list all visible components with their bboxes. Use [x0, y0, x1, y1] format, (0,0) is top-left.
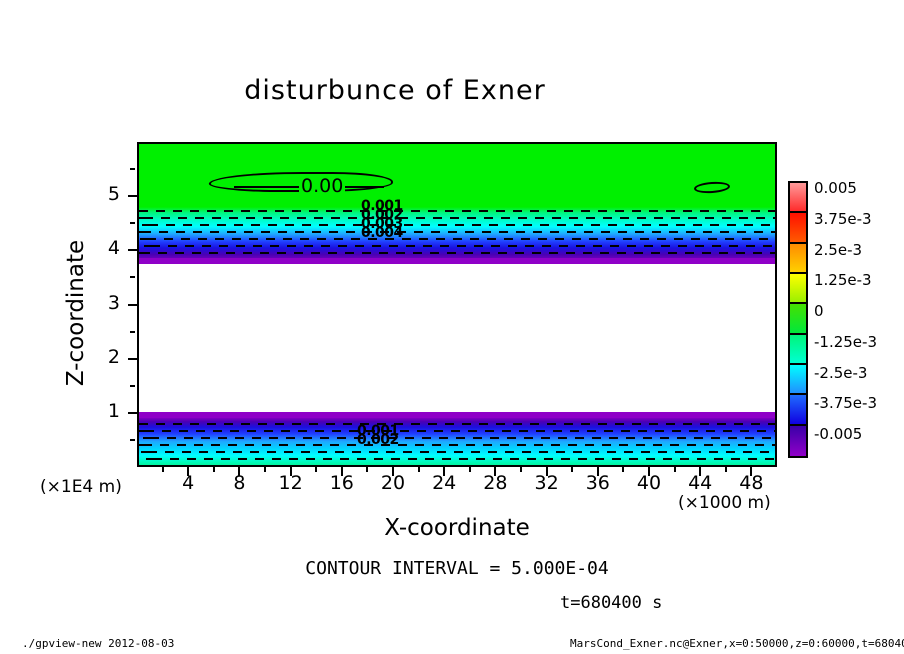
y-tick-label: 1	[96, 400, 120, 422]
colorbar	[788, 181, 808, 458]
x-tick-label: 8	[214, 472, 264, 494]
colorbar-tick-label: 0.005	[814, 179, 857, 197]
colorbar-tick-label: 2.5e-3	[814, 241, 862, 259]
y-tick-major	[128, 195, 137, 197]
x-tick-label: 16	[317, 472, 367, 494]
y-tick-major	[128, 249, 137, 251]
contour-label-cluster-lower: 0.001 0.002	[357, 427, 399, 445]
contour-dash-line	[139, 444, 775, 446]
x-tick-label: 44	[675, 472, 725, 494]
region-no-data	[139, 264, 775, 412]
page-title: disturbunce of Exner	[0, 75, 790, 106]
colorbar-band	[790, 335, 806, 365]
x-tick-label: 32	[522, 472, 572, 494]
y-tick-minor	[130, 222, 135, 224]
y-tick-label: 2	[96, 346, 120, 368]
colorbar-tick-label: -3.75e-3	[814, 394, 877, 412]
y-tick-major	[128, 358, 137, 360]
timestamp-label: t=680400 s	[560, 593, 662, 613]
contour-dash-line	[139, 238, 775, 240]
y-tick-minor	[130, 331, 135, 333]
plot-canvas: 0.00 0.001 0.002 0.003 0.004 0.001 0.002	[137, 142, 777, 467]
y-axis-unit: (×1E4 m)	[40, 477, 122, 497]
x-tick-label: 40	[624, 472, 674, 494]
x-tick-label: 28	[470, 472, 520, 494]
colorbar-band	[790, 244, 806, 274]
y-tick-label: 5	[96, 183, 120, 205]
x-tick-label: 36	[573, 472, 623, 494]
x-tick-label: 24	[419, 472, 469, 494]
y-tick-minor	[130, 439, 135, 441]
y-tick-label: 4	[96, 237, 120, 259]
contour-dash-line	[139, 437, 775, 439]
colorbar-tick-label: -1.25e-3	[814, 333, 877, 351]
contour-dash-line	[139, 458, 775, 460]
contour-dash-line	[139, 430, 775, 432]
colorbar-band	[790, 183, 806, 213]
contour-label-cluster-upper: 0.001 0.002 0.003 0.004	[361, 202, 403, 238]
colorbar-tick-label: -0.005	[814, 425, 862, 443]
contour-label-zero: 0.00	[299, 177, 345, 196]
contour-dash-line	[139, 451, 775, 453]
contour-dash-line	[139, 224, 775, 226]
x-tick-label: 48	[726, 472, 776, 494]
colorbar-band	[790, 304, 806, 334]
contour-dash-line	[139, 423, 775, 425]
colorbar-band	[790, 274, 806, 304]
y-axis-title: Z-coordinate	[63, 213, 89, 413]
y-tick-major	[128, 304, 137, 306]
colorbar-band	[790, 213, 806, 243]
contour-dash-line	[139, 231, 775, 233]
colorbar-band	[790, 395, 806, 425]
y-tick-label: 3	[96, 292, 120, 314]
y-tick-minor	[130, 276, 135, 278]
x-tick-label: 20	[368, 472, 418, 494]
colorbar-band	[790, 365, 806, 395]
contour-dash-line	[139, 210, 775, 212]
colorbar-tick-label: 0	[814, 302, 824, 320]
contour-interval-label: CONTOUR INTERVAL = 5.000E-04	[137, 558, 777, 579]
contour-dash-line	[139, 217, 775, 219]
x-axis-title: X-coordinate	[137, 515, 777, 541]
contour-dash-line	[139, 252, 775, 254]
colorbar-tick-label: 3.75e-3	[814, 210, 872, 228]
y-tick-major	[128, 412, 137, 414]
footer-command: ./gpview-new 2012-08-03	[22, 637, 174, 650]
x-tick-label: 4	[163, 472, 213, 494]
x-axis-unit: (×1000 m)	[678, 493, 771, 513]
footer-dataset: MarsCond_Exner.nc@Exner,x=0:50000,z=0:60…	[570, 637, 904, 650]
y-tick-minor	[130, 385, 135, 387]
contour-dash-line	[139, 245, 775, 247]
colorbar-tick-label: -2.5e-3	[814, 364, 867, 382]
x-tick-label: 12	[266, 472, 316, 494]
colorbar-tick-label: 1.25e-3	[814, 271, 872, 289]
y-tick-minor	[130, 168, 135, 170]
colorbar-band	[790, 426, 806, 456]
